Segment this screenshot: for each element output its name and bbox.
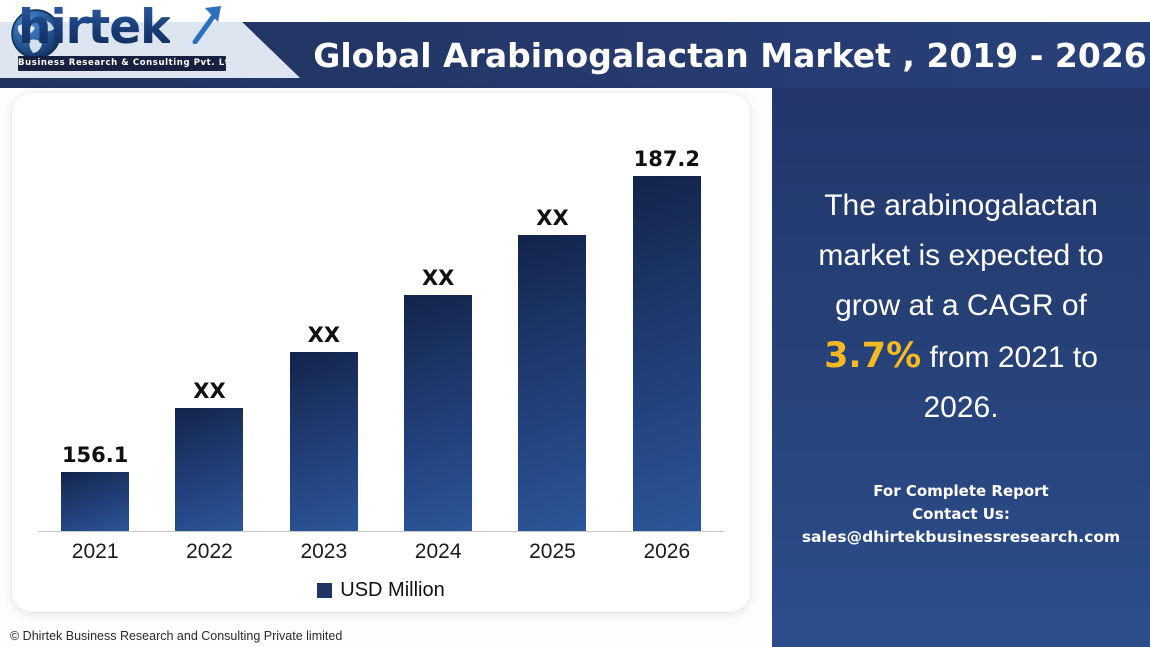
footer-copyright: © Dhirtek Business Research and Consulti… xyxy=(10,626,610,646)
contact-line-2: Contact Us: xyxy=(782,503,1140,526)
bar-2026[interactable] xyxy=(633,176,701,531)
bar-2022[interactable] xyxy=(175,408,243,531)
legend-label-usd-million: USD Million xyxy=(340,579,444,602)
legend-swatch-usd-million xyxy=(317,583,332,598)
cagr-statement: The arabinogalactan market is expected t… xyxy=(786,181,1136,433)
cagr-value: 3.7% xyxy=(824,336,921,376)
bar-value-label-2023: XX xyxy=(267,324,381,346)
bar-chart-plot: 156.1XXXXXXXX187.2 xyxy=(12,93,750,533)
chart-card: 156.1XXXXXXXX187.2 202120222023202420252… xyxy=(12,93,750,612)
x-tick-2021: 2021 xyxy=(38,537,152,567)
chart-legend: USD Million xyxy=(12,575,750,605)
bar-value-label-2024: XX xyxy=(381,267,495,289)
x-tick-2026: 2026 xyxy=(610,537,724,567)
x-tick-2023: 2023 xyxy=(267,537,381,567)
bar-value-label-2025: XX xyxy=(495,207,609,229)
bar-group-2023: XX xyxy=(267,113,381,531)
bar-group-2025: XX xyxy=(495,113,609,531)
bar-value-label-2022: XX xyxy=(152,380,266,402)
growth-arrow-icon xyxy=(191,4,225,44)
bar-2021[interactable] xyxy=(61,472,129,531)
x-axis-line xyxy=(38,531,724,532)
contact-block: For Complete Report Contact Us: sales@dh… xyxy=(782,480,1140,549)
cagr-text-trail: from 2021 to 2026. xyxy=(921,341,1098,424)
infographic-page: hirtek Business Research & Consulting Pv… xyxy=(0,0,1150,647)
x-tick-2024: 2024 xyxy=(381,537,495,567)
logo-wordmark: hirtek xyxy=(18,0,170,56)
company-logo[interactable]: hirtek Business Research & Consulting Pv… xyxy=(6,2,236,72)
bar-group-2026: 187.2 xyxy=(610,113,724,531)
bar-value-label-2021: 156.1 xyxy=(38,444,152,466)
bar-series-usd-million: 156.1XXXXXXXX187.2 xyxy=(38,113,724,531)
bar-group-2024: XX xyxy=(381,113,495,531)
logo-tagline: Business Research & Consulting Pvt. Ltd. xyxy=(18,56,226,71)
page-header: hirtek Business Research & Consulting Pv… xyxy=(0,0,1150,88)
x-tick-2022: 2022 xyxy=(152,537,266,567)
x-axis-tick-labels: 202120222023202420252026 xyxy=(38,537,724,567)
bar-2025[interactable] xyxy=(518,235,586,531)
bar-value-label-2026: 187.2 xyxy=(610,148,724,170)
page-title: Global Arabinogalactan Market , 2019 - 2… xyxy=(318,22,1142,88)
x-tick-2025: 2025 xyxy=(495,537,609,567)
contact-line-1: For Complete Report xyxy=(782,480,1140,503)
contact-email-link[interactable]: sales@dhirtekbusinessresearch.com xyxy=(782,526,1140,549)
bar-2023[interactable] xyxy=(290,352,358,531)
cagr-text-lead: The arabinogalactan market is expected t… xyxy=(818,189,1103,322)
bar-group-2021: 156.1 xyxy=(38,113,152,531)
side-info-panel: The arabinogalactan market is expected t… xyxy=(772,88,1150,647)
bar-2024[interactable] xyxy=(404,295,472,531)
bar-group-2022: XX xyxy=(152,113,266,531)
